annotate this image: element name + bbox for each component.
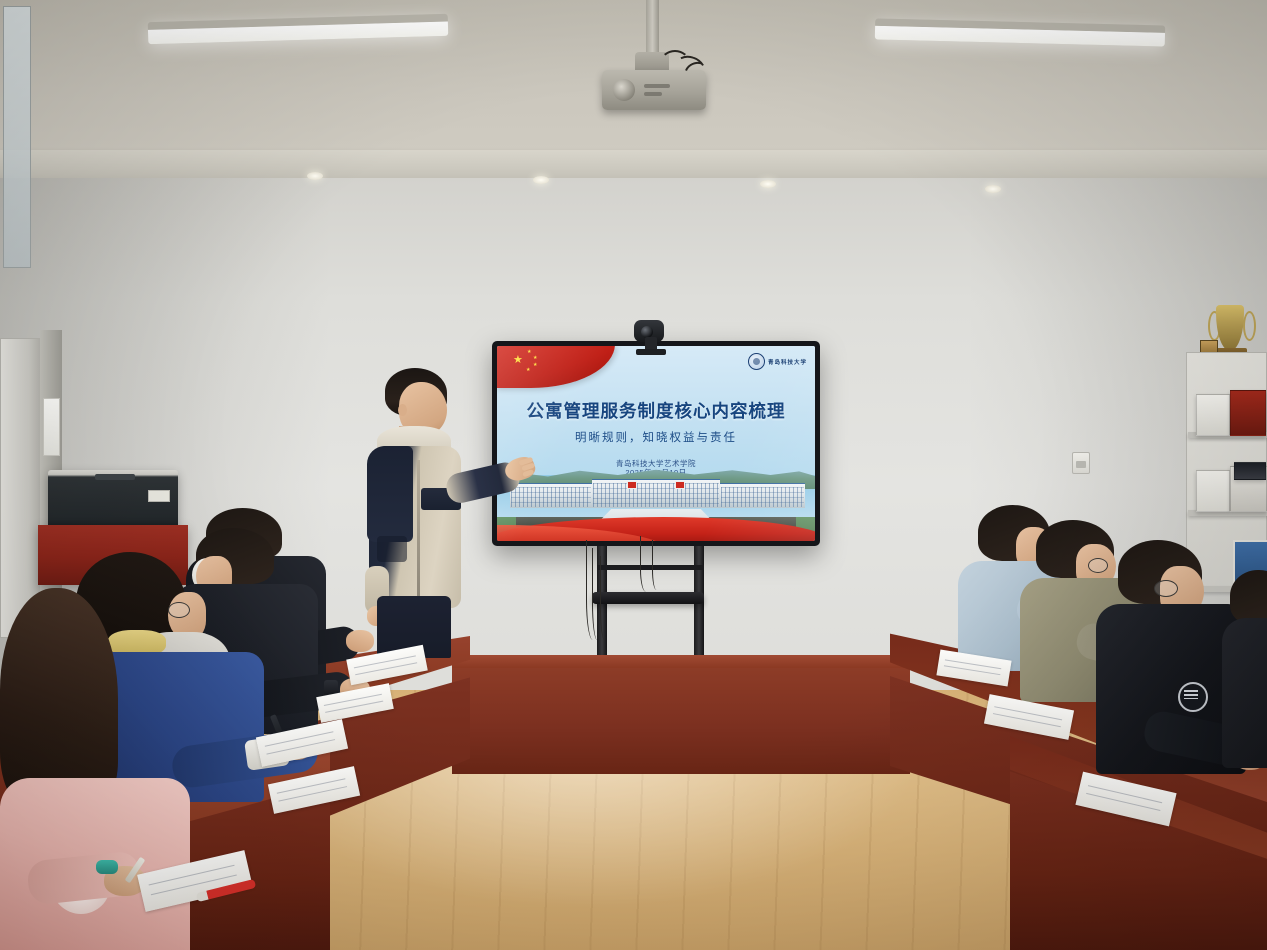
university-logo: 青岛科技大学 (748, 353, 807, 370)
university-logo-text: 青岛科技大学 (768, 358, 807, 366)
flag-star-small: ★ (527, 350, 531, 355)
trophy-handle (1243, 311, 1256, 341)
tv-cable (652, 540, 663, 590)
presenter-ear (398, 404, 407, 416)
projector-pole (646, 0, 659, 58)
presenter-jacket-shoulder (367, 446, 413, 542)
monitor-vent (95, 474, 135, 480)
campus-flag-badge (627, 481, 637, 489)
center-table-front (452, 668, 910, 774)
monitor-sticker (148, 490, 170, 502)
wall-notice-sheet (43, 398, 60, 456)
flag-star-small: ★ (533, 356, 537, 361)
university-emblem-icon (748, 353, 765, 370)
projector-vent (644, 84, 670, 88)
eyeglasses (1154, 580, 1178, 597)
projector-lens-icon (613, 79, 635, 101)
flag-star-large: ★ (513, 355, 523, 366)
camera-base (636, 349, 666, 355)
tv-screen: ★ ★ ★ ★ ★ 青岛科技大学 公寓管理服务制度核心内容梳理 明晰规则，知晓权… (497, 346, 815, 541)
student-hand (346, 630, 374, 652)
campus-building (592, 479, 719, 508)
slide-title: 公寓管理服务制度核心内容梳理 (497, 398, 815, 423)
presenter-jacket-zipper (417, 460, 420, 602)
wall-tv-display: ★ ★ ★ ★ ★ 青岛科技大学 公寓管理服务制度核心内容梳理 明晰规则，知晓权… (492, 341, 820, 546)
magazine (1234, 462, 1266, 480)
student-jacket (1222, 618, 1267, 768)
presenter-jacket-pocket (377, 536, 407, 562)
wall-light-switch[interactable] (1072, 452, 1090, 474)
projector-vent (644, 92, 662, 96)
student-hair (1230, 570, 1267, 624)
student-hair (0, 588, 118, 810)
tv-cable (600, 556, 611, 640)
campus-aerial-photo (497, 463, 815, 541)
magazine (1230, 390, 1266, 436)
student-edge-right (1222, 570, 1267, 770)
standing-presenter (355, 368, 535, 653)
cabinet-glass-door (3, 6, 31, 268)
bracelet (96, 860, 118, 874)
downlight-3 (760, 180, 776, 188)
slide-subtitle: 明晰规则，知晓权益与责任 (497, 429, 815, 445)
downlight-1 (307, 172, 323, 180)
conference-room-photo: ★ ★ ★ ★ ★ 青岛科技大学 公寓管理服务制度核心内容梳理 明晰规则，知晓权… (0, 0, 1267, 950)
downlight-4 (985, 185, 1001, 193)
magazine (1196, 394, 1230, 436)
campus-building (720, 483, 806, 508)
campus-flag-badge (675, 481, 685, 489)
jacket-logo-mark (1184, 690, 1198, 699)
magazine (1196, 470, 1230, 512)
downlight-2 (533, 176, 549, 184)
